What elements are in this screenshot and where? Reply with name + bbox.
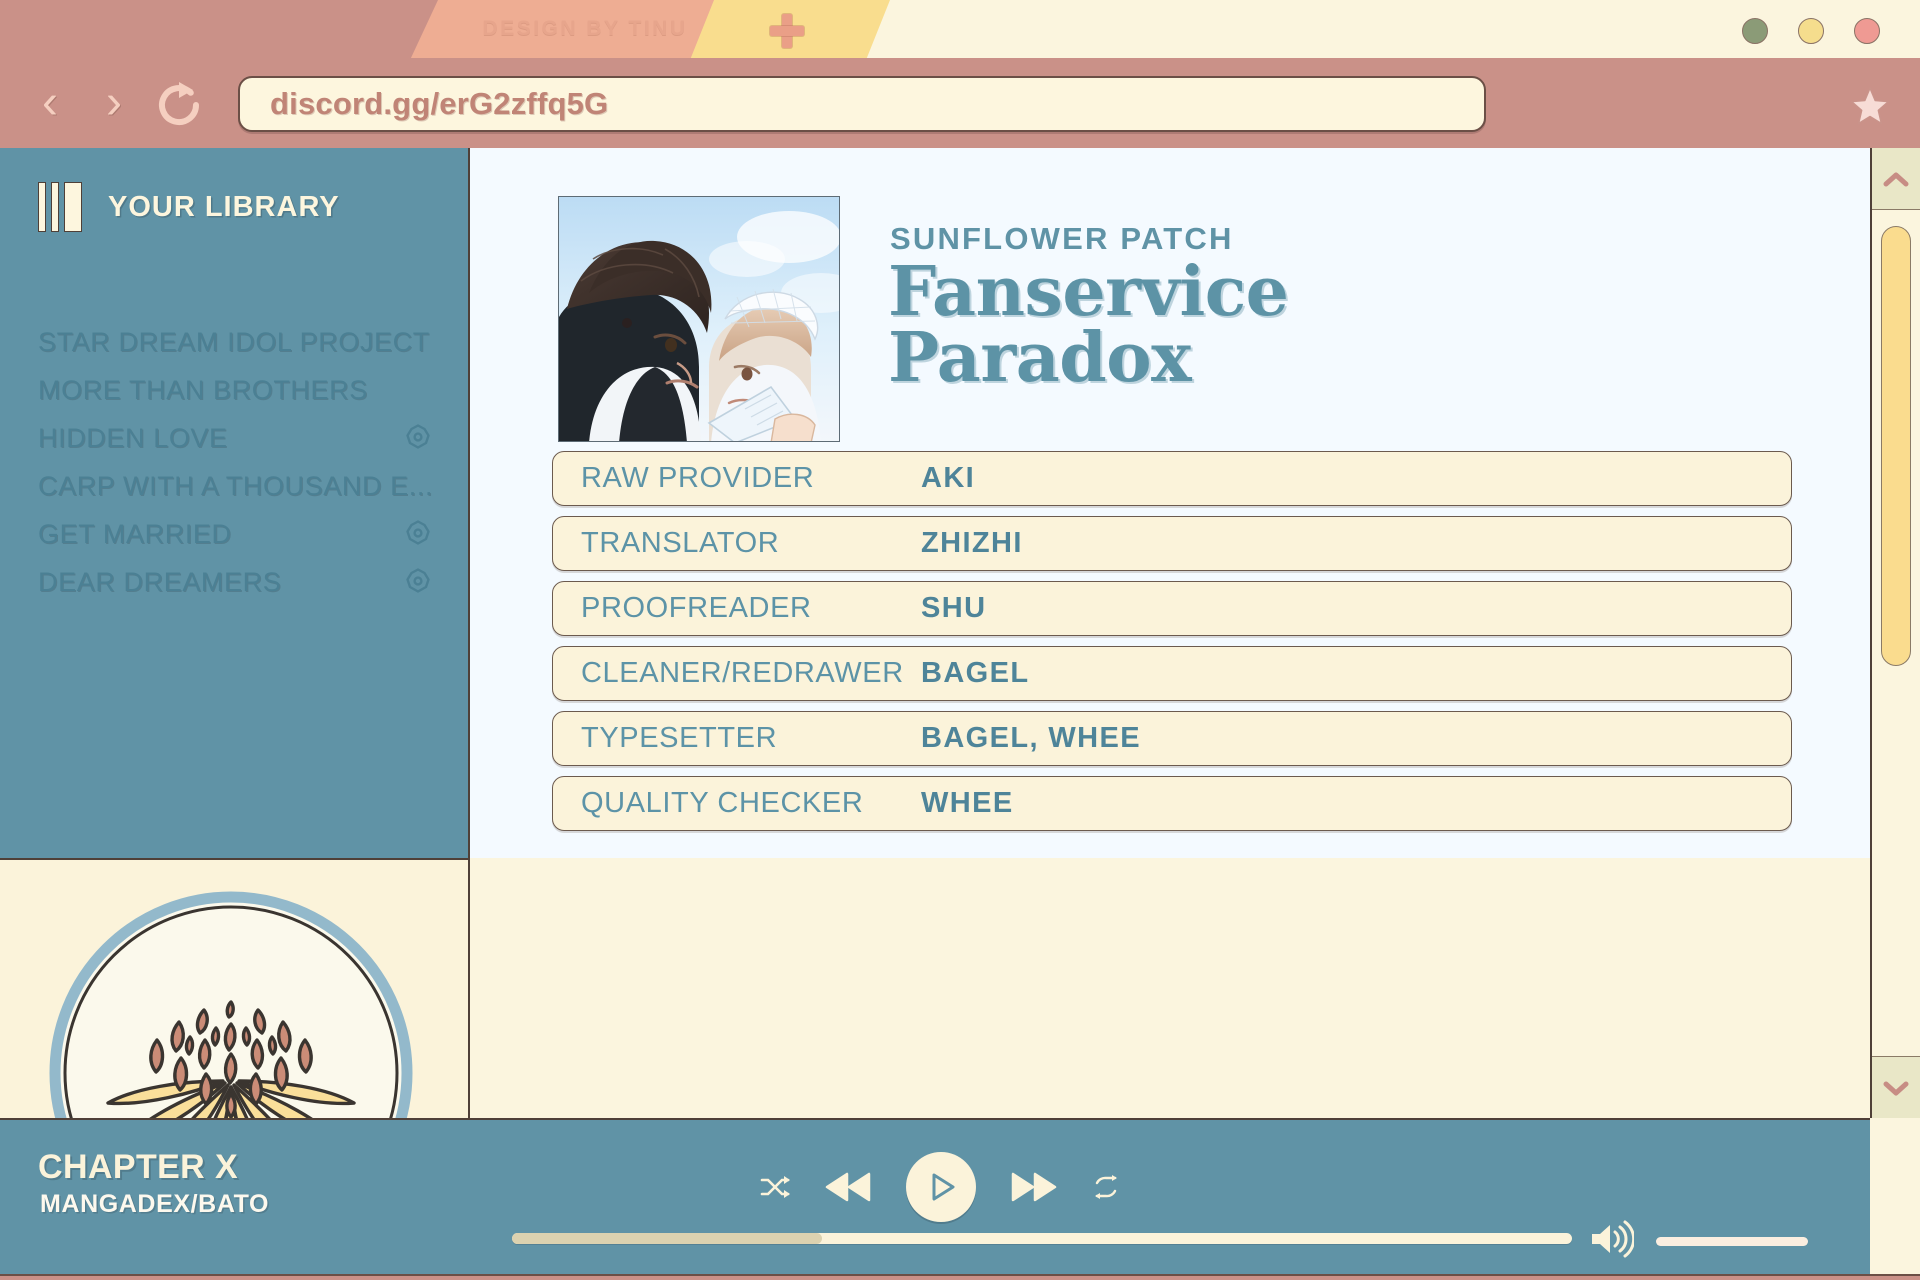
sidebar: YOUR LIBRARY STAR DREAM IDOL PROJECT MOR… <box>0 148 470 858</box>
star-icon[interactable] <box>1850 86 1890 126</box>
shuffle-icon[interactable] <box>760 1175 790 1199</box>
chapter-title: CHAPTER X <box>38 1148 238 1187</box>
sidebar-item-dear-dreamers[interactable]: DEAR DREAMERS <box>38 558 434 606</box>
credit-name: AKI <box>921 462 975 495</box>
credit-role: TYPESETTER <box>581 722 777 755</box>
plus-icon[interactable] <box>770 14 804 48</box>
sidebar-item-star-dream-idol-project[interactable]: STAR DREAM IDOL PROJECT <box>38 318 434 366</box>
window-controls <box>1742 18 1880 44</box>
flower-icon[interactable] <box>402 566 434 598</box>
volume-icon[interactable] <box>1588 1220 1634 1263</box>
transport-controls <box>760 1148 1120 1226</box>
credits-list: RAW PROVIDER AKI TRANSLATOR ZHIZHI PROOF… <box>552 451 1792 841</box>
rewind-icon[interactable] <box>825 1171 871 1203</box>
scroll-down-button[interactable] <box>1872 1056 1920 1118</box>
credit-role: CLEANER/REDRAWER <box>581 657 904 690</box>
back-icon[interactable]: ‹ <box>28 80 72 128</box>
content-panel: SUNFLOWER PATCH Fanservice Paradox RAW P… <box>470 148 1870 858</box>
credit-role: RAW PROVIDER <box>581 462 814 495</box>
seek-progress <box>512 1233 822 1244</box>
url-text: discord.gg/erG2zffq5G <box>270 86 608 122</box>
status-bar: MAKE SURE TO SUPPORT THE ORIGINAL ARTIST… <box>0 1274 1920 1280</box>
cover-art <box>558 196 840 442</box>
seek-bar[interactable] <box>512 1233 1572 1244</box>
sidebar-item-label: GET MARRIED <box>38 519 232 550</box>
credit-row[interactable]: RAW PROVIDER AKI <box>552 451 1792 506</box>
scrollbar[interactable] <box>1870 148 1920 1118</box>
flower-icon[interactable] <box>402 422 434 454</box>
url-bar-row: ‹ › discord.gg/erG2zffq5G <box>0 58 1920 150</box>
credit-role: TRANSLATOR <box>581 527 779 560</box>
credit-name: ZHIZHI <box>921 527 1023 560</box>
credit-name: BAGEL <box>921 657 1030 690</box>
sidebar-item-carp-with-a-thousand-e[interactable]: CARP WITH A THOUSAND E... <box>38 462 434 510</box>
tab-strip: DESIGN BY TINU <box>0 0 1920 60</box>
volume-slider[interactable] <box>1656 1237 1808 1246</box>
main-area: YOUR LIBRARY STAR DREAM IDOL PROJECT MOR… <box>0 148 1920 1274</box>
library-list: STAR DREAM IDOL PROJECT MORE THAN BROTHE… <box>38 318 434 606</box>
url-input[interactable]: discord.gg/erG2zffq5G <box>238 76 1486 132</box>
sidebar-item-label: MORE THAN BROTHERS <box>38 375 368 406</box>
reload-icon[interactable] <box>152 78 206 132</box>
close-button[interactable] <box>1854 18 1880 44</box>
title-line-1: Fanservice <box>888 260 1788 326</box>
flower-icon[interactable] <box>402 518 434 550</box>
repeat-icon[interactable] <box>1092 1174 1120 1200</box>
sidebar-item-hidden-love[interactable]: HIDDEN LOVE <box>38 414 434 462</box>
chevron-up-icon <box>1883 171 1909 187</box>
credit-name: SHU <box>921 592 986 625</box>
credit-row[interactable]: CLEANER/REDRAWER BAGEL <box>552 646 1792 701</box>
sidebar-item-label: STAR DREAM IDOL PROJECT <box>38 327 430 358</box>
scroll-up-button[interactable] <box>1872 148 1920 210</box>
forward-icon[interactable]: › <box>92 80 136 128</box>
player-bar: CHAPTER X MANGADEX/BATO <box>0 1118 1870 1274</box>
sidebar-item-label: CARP WITH A THOUSAND E... <box>38 471 433 502</box>
chevron-down-icon <box>1883 1080 1909 1096</box>
title-line-2: Paradox <box>888 326 1788 392</box>
fast-forward-icon[interactable] <box>1011 1171 1057 1203</box>
minimize-button[interactable] <box>1742 18 1768 44</box>
credit-row[interactable]: TYPESETTER BAGEL, WHEE <box>552 711 1792 766</box>
library-title: YOUR LIBRARY <box>108 191 340 224</box>
tab-strip-background <box>0 0 440 60</box>
credit-name: BAGEL, WHEE <box>921 722 1141 755</box>
sidebar-item-get-married[interactable]: GET MARRIED <box>38 510 434 558</box>
chapter-source: MANGADEX/BATO <box>40 1190 269 1219</box>
credit-row[interactable]: PROOFREADER SHU <box>552 581 1792 636</box>
credit-row[interactable]: TRANSLATOR ZHIZHI <box>552 516 1792 571</box>
volume-control <box>1588 1220 1808 1263</box>
credit-row[interactable]: QUALITY CHECKER WHEE <box>552 776 1792 831</box>
credit-name: WHEE <box>921 787 1014 820</box>
browser-window: DESIGN BY TINU ‹ › discord.gg/erG2zffq5G <box>0 0 1920 1280</box>
page-title: Fanservice Paradox <box>888 260 1788 392</box>
library-bars-icon <box>38 182 84 232</box>
sidebar-item-more-than-brothers[interactable]: MORE THAN BROTHERS <box>38 366 434 414</box>
credit-role: PROOFREADER <box>581 592 812 625</box>
maximize-button[interactable] <box>1798 18 1824 44</box>
scrollbar-thumb[interactable] <box>1881 226 1911 666</box>
credit-role: QUALITY CHECKER <box>581 787 863 820</box>
sidebar-item-label: DEAR DREAMERS <box>38 567 281 598</box>
sidebar-item-label: HIDDEN LOVE <box>38 423 228 454</box>
library-header: YOUR LIBRARY <box>38 182 340 232</box>
play-icon[interactable] <box>906 1152 976 1222</box>
